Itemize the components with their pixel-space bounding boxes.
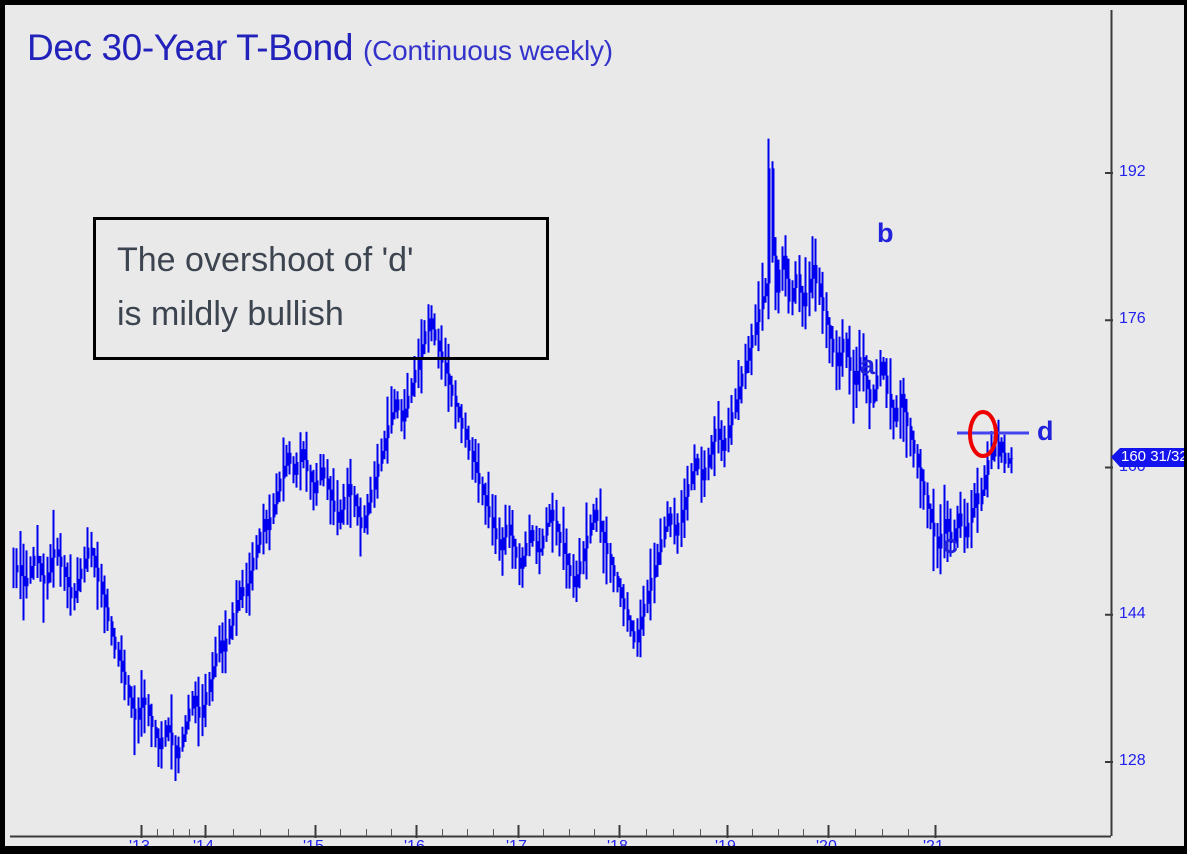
x-tick-label-y20: '20 [816, 838, 837, 854]
price-tag-arrow-icon [1111, 448, 1120, 467]
page-title: Dec 30-Year T-Bond(Continuous weekly) [27, 27, 613, 69]
x-tick-label-y15: '15 [303, 838, 324, 854]
wave-label-d: d [1037, 416, 1054, 447]
y-tick-label-176: 176 [1119, 310, 1146, 328]
x-tick-label-y17: '17 [506, 838, 527, 854]
price-chart-canvas [5, 5, 1187, 854]
chart-page: Dec 30-Year T-Bond(Continuous weekly) Th… [0, 0, 1187, 854]
x-tick-label-y16: '16 [404, 838, 425, 854]
annotation-text: The overshoot of 'd' is mildly bullish [117, 233, 547, 341]
x-tick-label-y14: '14 [193, 838, 214, 854]
current-price-tag: 160 31/32 [1111, 448, 1187, 467]
chart-title-text: Dec 30-Year T-Bond [27, 27, 353, 68]
y-tick-label-144: 144 [1119, 605, 1146, 623]
price-tag-value: 160 31/32 [1120, 448, 1187, 467]
x-tick-label-y18: '18 [607, 838, 628, 854]
wave-label-a: a [860, 350, 875, 381]
y-tick-label-128: 128 [1119, 752, 1146, 770]
wave-label-b: b [877, 218, 894, 249]
chart-subtitle-text: (Continuous weekly) [363, 35, 613, 66]
x-tick-label-y19: '19 [715, 838, 736, 854]
x-tick-label-y21: '21 [923, 838, 944, 854]
wave-label-c: c [943, 529, 958, 560]
x-tick-label-y13: '13 [129, 838, 150, 854]
y-tick-label-192: 192 [1119, 163, 1146, 181]
